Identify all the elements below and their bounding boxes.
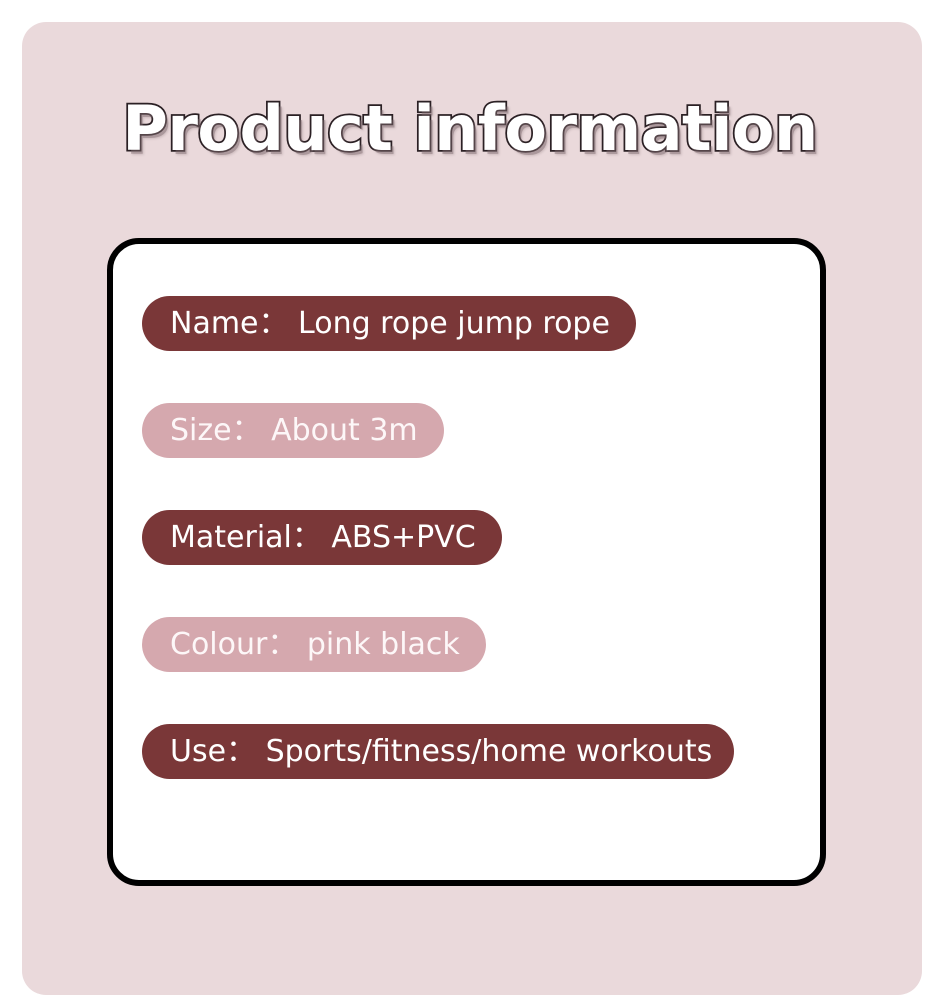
spec-row-text: Name： Long rope jump rope	[170, 309, 610, 339]
spec-row-text: Colour： pink black	[170, 630, 460, 660]
spec-row-use: Use： Sports/fitness/home workouts	[142, 724, 734, 779]
spec-row-text: Size： About 3m	[170, 416, 418, 446]
spec-row-text: Material： ABS+PVC	[170, 523, 476, 553]
spec-card: Name： Long rope jump rope Size： About 3m…	[107, 238, 826, 886]
page-title: Product information	[122, 92, 817, 165]
spec-row-colour: Colour： pink black	[142, 617, 486, 672]
spec-row-text: Use： Sports/fitness/home workouts	[170, 737, 712, 767]
spec-row-name: Name： Long rope jump rope	[142, 296, 636, 351]
spec-row-size: Size： About 3m	[142, 403, 444, 458]
page-title-container: Product information	[0, 92, 940, 165]
spec-list: Name： Long rope jump rope Size： About 3m…	[142, 296, 802, 779]
product-info-panel: Product information Name： Long rope jump…	[22, 22, 922, 995]
spec-row-material: Material： ABS+PVC	[142, 510, 502, 565]
